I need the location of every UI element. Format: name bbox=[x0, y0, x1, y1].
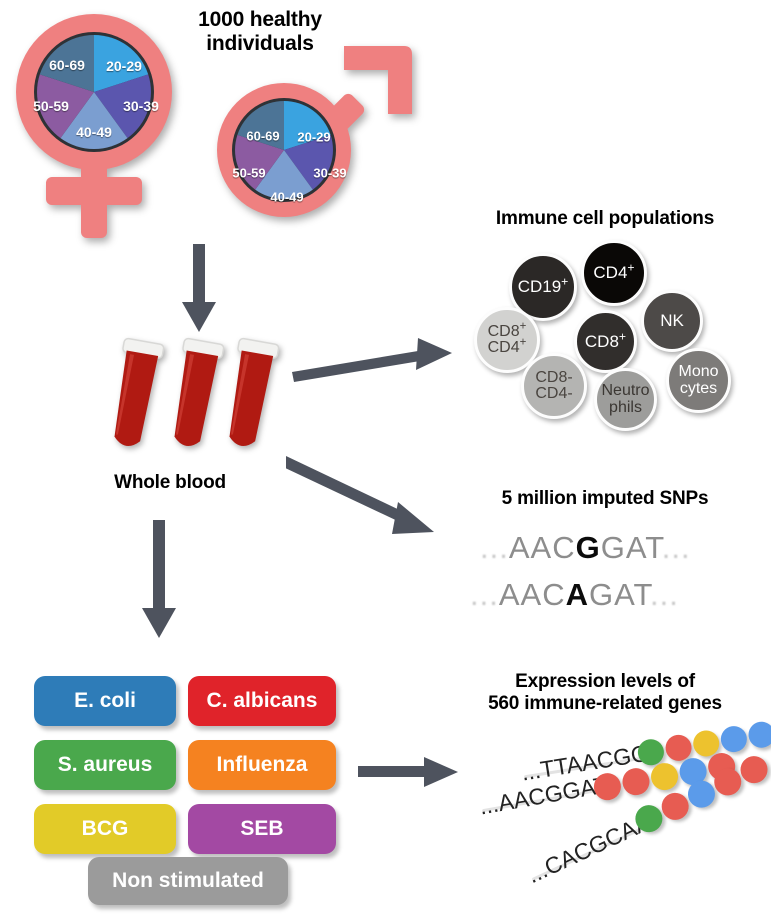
snp2-prefix: ... bbox=[470, 577, 499, 612]
immune-cell-label: CD4- bbox=[535, 386, 572, 402]
dna-bead bbox=[684, 776, 720, 812]
stimulus-label: S. aureus bbox=[58, 753, 153, 777]
dna-backbone bbox=[482, 789, 599, 812]
dna-bead bbox=[747, 720, 771, 750]
pie-label-60-69: 60-69 bbox=[49, 57, 85, 73]
snp1-suffix: ... bbox=[662, 530, 691, 565]
snp1-after: GAT bbox=[601, 530, 662, 565]
immune-cell-label: CD4+ bbox=[593, 264, 634, 281]
immune-cell-nk[interactable]: NK bbox=[641, 290, 703, 352]
dna-bead bbox=[620, 766, 651, 797]
immune-cell-label: Mono bbox=[678, 364, 718, 380]
immune-cell-cd8[interactable]: CD8+ bbox=[574, 310, 637, 373]
dna-bead bbox=[710, 764, 746, 800]
stimulus-label: SEB bbox=[240, 817, 283, 841]
arrow-blood-to-immune-icon bbox=[292, 330, 462, 390]
stimulus-button-3[interactable]: Influenza bbox=[188, 740, 336, 790]
snp-row-2: ...AACAGAT... bbox=[470, 577, 679, 613]
dna-bead bbox=[631, 801, 667, 837]
stimulus-button-4[interactable]: BCG bbox=[34, 804, 176, 854]
immune-cell-label: phils bbox=[601, 400, 649, 416]
dna-bead bbox=[691, 729, 721, 759]
dna-sequence-text: ...TTAACGG bbox=[519, 740, 650, 787]
label-whole-blood: Whole blood bbox=[70, 472, 270, 494]
arrow-blood-to-snp-icon bbox=[286, 456, 451, 546]
snp2-before: AAC bbox=[499, 577, 566, 612]
stimulus-label: Non stimulated bbox=[112, 869, 264, 893]
immune-cell-label: CD19+ bbox=[518, 278, 569, 295]
stimulus-button-5[interactable]: SEB bbox=[188, 804, 336, 854]
immune-cell-monocytes[interactable]: Monocytes bbox=[666, 348, 731, 413]
stimulus-label: BCG bbox=[82, 817, 129, 841]
arrow-blood-to-stimuli-icon bbox=[138, 520, 180, 640]
dna-backbone bbox=[532, 828, 640, 881]
arrow-donors-to-blood-icon bbox=[178, 244, 220, 334]
pie-label-30-39: 30-39 bbox=[123, 98, 159, 114]
dna-sequence-text: ...CACGCAA bbox=[523, 808, 655, 889]
arrow-stimuli-to-genes-icon bbox=[358, 752, 463, 792]
dna-bead bbox=[636, 737, 666, 767]
dna-strand-1: ...AACGGAT bbox=[475, 733, 771, 830]
snp2-suffix: ... bbox=[650, 577, 679, 612]
pie-male-label-40-49: 40-49 bbox=[270, 190, 303, 205]
section-title-immune-cells: Immune cell populations bbox=[440, 208, 770, 230]
snp1-variant: G bbox=[576, 530, 601, 565]
section-title-snps: 5 million imputed SNPs bbox=[440, 488, 770, 510]
pie-label-50-59: 50-59 bbox=[33, 98, 69, 114]
immune-cell-label: CD8+ bbox=[585, 333, 626, 350]
dna-bead bbox=[664, 733, 694, 763]
snp2-after: GAT bbox=[589, 577, 650, 612]
immune-cell-label: cytes bbox=[678, 381, 718, 397]
dna-bead bbox=[719, 724, 749, 754]
immune-cell-cd4[interactable]: CD4+ bbox=[581, 240, 647, 306]
immune-cell-label: NK bbox=[660, 312, 684, 329]
snp1-prefix: ... bbox=[480, 530, 509, 565]
pie-label-20-29: 20-29 bbox=[106, 58, 142, 74]
pie-male-label-30-39: 30-39 bbox=[313, 166, 346, 181]
snp1-before: AAC bbox=[509, 530, 576, 565]
pie-male-label-50-59: 50-59 bbox=[232, 166, 265, 181]
dna-bead bbox=[677, 756, 708, 787]
stimulus-label: E. coli bbox=[74, 689, 136, 713]
pie-male-label-60-69: 60-69 bbox=[246, 129, 279, 144]
dna-strand-2: ...CACGCAA bbox=[520, 722, 771, 898]
dna-strand-0: ...TTAACGG bbox=[517, 705, 771, 796]
immune-cell-neutrophils[interactable]: Neutrophils bbox=[594, 368, 657, 431]
pie-label-40-49: 40-49 bbox=[76, 124, 112, 140]
stimulus-button-2[interactable]: S. aureus bbox=[34, 740, 176, 790]
dna-backbone bbox=[524, 757, 641, 778]
section-title-expression: Expression levels of 560 immune-related … bbox=[440, 671, 770, 715]
dna-sequence-text: ...AACGGAT bbox=[477, 771, 610, 820]
snp2-variant: A bbox=[566, 577, 589, 612]
stimulus-button-1[interactable]: C. albicans bbox=[188, 676, 336, 726]
dna-bead bbox=[706, 751, 737, 782]
snp-row-1: ...AACGGAT... bbox=[480, 530, 691, 566]
dna-bead bbox=[649, 761, 680, 792]
immune-cell-label: CD4+ bbox=[488, 340, 527, 356]
pie-male-label-20-29: 20-29 bbox=[297, 130, 330, 145]
immune-cell-label: CD8- bbox=[535, 370, 572, 386]
stimulus-button-0[interactable]: E. coli bbox=[34, 676, 176, 726]
immune-cell-label: Neutro bbox=[601, 383, 649, 399]
stimulus-label: Influenza bbox=[216, 753, 307, 777]
blood-tubes-icon bbox=[100, 335, 285, 470]
stimulus-label: C. albicans bbox=[207, 689, 318, 713]
dna-bead bbox=[592, 771, 623, 802]
dna-bead bbox=[736, 752, 771, 788]
stimulus-button-6[interactable]: Non stimulated bbox=[88, 857, 288, 905]
dna-bead bbox=[657, 788, 693, 824]
figure-canvas: 1000 healthy individuals Immune cell pop… bbox=[0, 0, 771, 922]
immune-cell-cd8cd4neg[interactable]: CD8-CD4- bbox=[521, 353, 587, 419]
